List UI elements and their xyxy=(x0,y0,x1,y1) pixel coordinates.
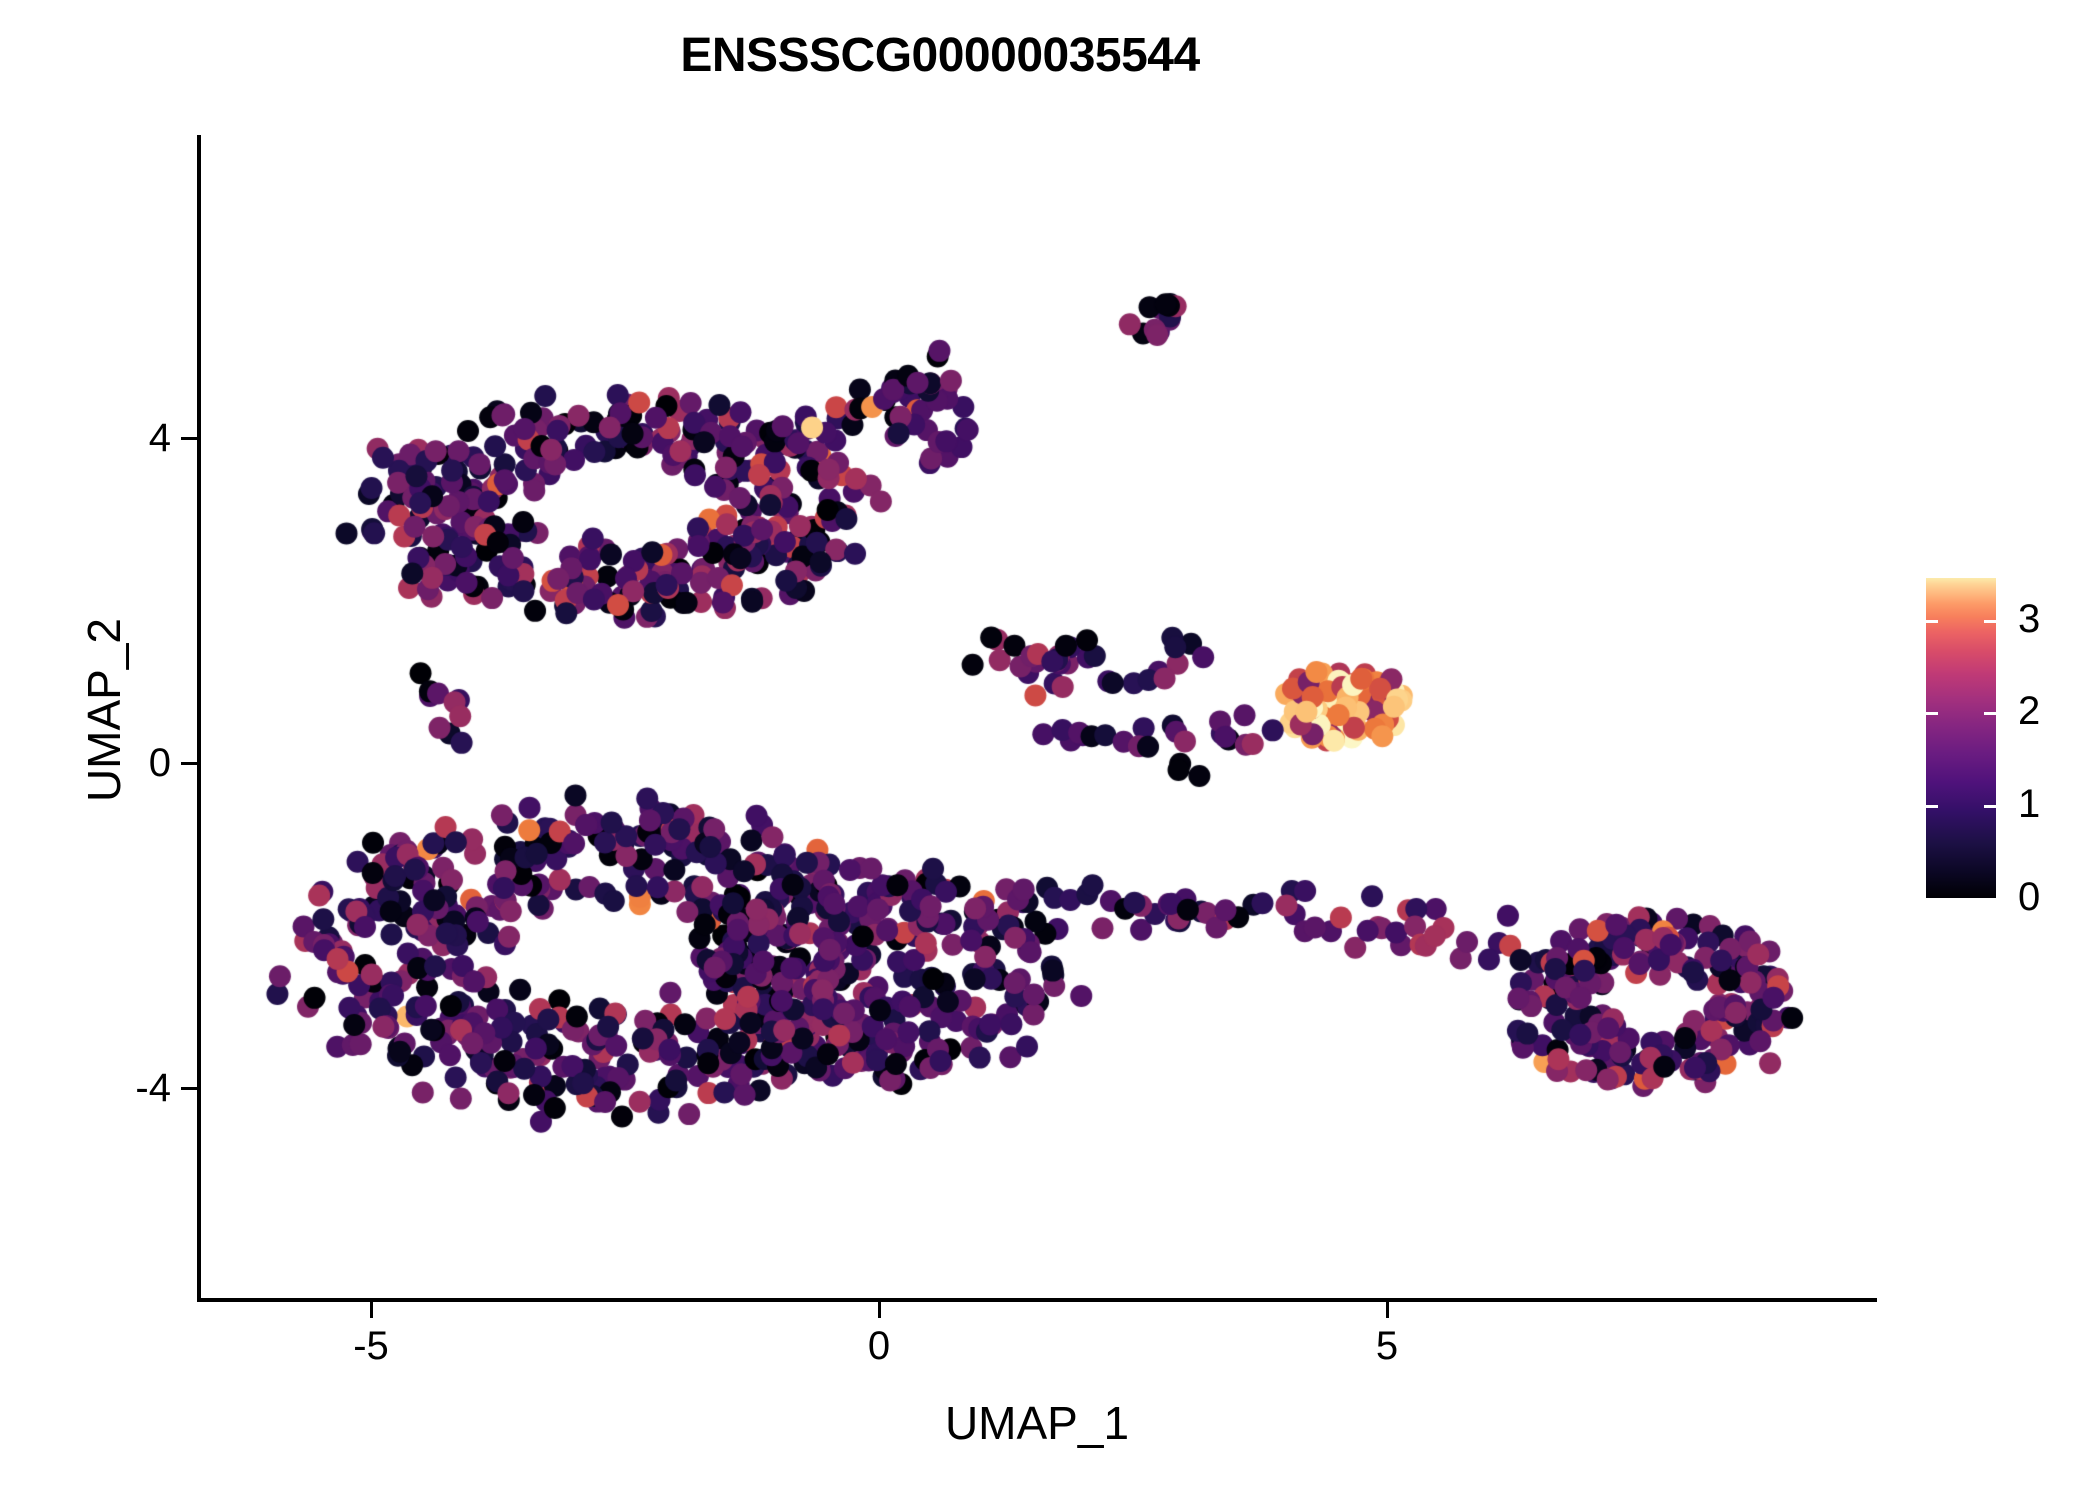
colorbar-tick-mark xyxy=(1984,805,1996,808)
x-axis-label: UMAP_1 xyxy=(197,1396,1877,1450)
colorbar-tick-label: 3 xyxy=(2018,599,2100,639)
colorbar-tick-mark xyxy=(1926,620,1938,623)
x-tick-mark xyxy=(1386,1302,1389,1318)
x-axis-line xyxy=(197,1298,1877,1302)
plot-panel xyxy=(197,135,1877,1300)
colorbar-tick-mark xyxy=(1984,712,1996,715)
x-tick-label: 5 xyxy=(1307,1326,1467,1366)
y-axis-line xyxy=(197,135,201,1302)
colorbar-tick-mark xyxy=(1926,712,1938,715)
y-tick-mark xyxy=(181,762,197,765)
y-tick-mark xyxy=(181,1087,197,1090)
x-tick-label: -5 xyxy=(291,1326,451,1366)
page-title: ENSSSCG00000035544 xyxy=(0,28,1880,83)
y-tick-mark xyxy=(181,437,197,440)
colorbar-tick-label: 0 xyxy=(2018,877,2100,917)
umap-feature-plot: ENSSSCG00000035544 40-4 -505 UMAP_1 UMAP… xyxy=(0,0,2100,1500)
y-axis-label: UMAP_2 xyxy=(77,310,131,1110)
colorbar-tick-label: 2 xyxy=(2018,691,2100,731)
x-tick-label: 0 xyxy=(799,1326,959,1366)
colorbar-tick-mark xyxy=(1926,805,1938,808)
x-tick-mark xyxy=(878,1302,881,1318)
colorbar-legend xyxy=(1926,578,1996,898)
x-tick-mark xyxy=(370,1302,373,1318)
colorbar-tick-mark xyxy=(1984,620,1996,623)
colorbar-tick-label: 1 xyxy=(2018,784,2100,824)
colorbar-gradient xyxy=(1926,578,1996,898)
